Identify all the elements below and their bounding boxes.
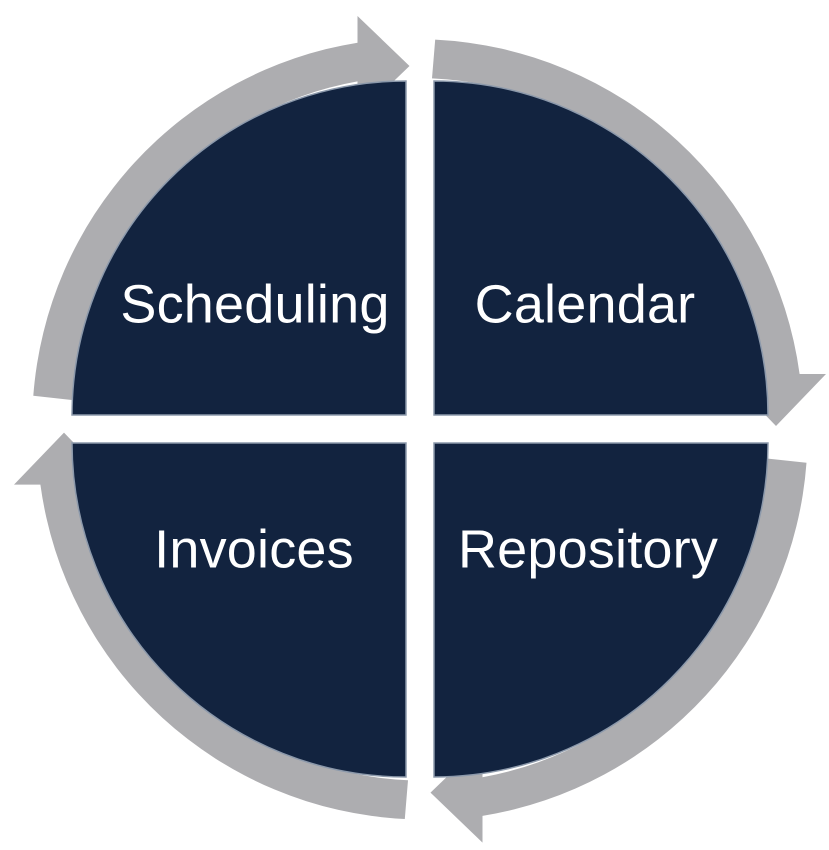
quadrant-labels-group: Scheduling Calendar Repository Invoices [120, 274, 718, 579]
quadrant-label-repository: Repository [458, 519, 718, 579]
quadrant-invoices[interactable] [72, 443, 406, 777]
quadrant-scheduling[interactable] [72, 81, 406, 415]
quadrant-calendar[interactable] [434, 81, 768, 415]
quadrant-label-scheduling: Scheduling [120, 274, 389, 334]
quadrant-label-calendar: Calendar [475, 274, 696, 334]
quadrant-group [72, 81, 768, 777]
arrow-ring-group [14, 16, 826, 843]
cycle-diagram-canvas: Scheduling Calendar Repository Invoices [0, 0, 829, 850]
quadrant-repository[interactable] [434, 443, 768, 777]
quadrant-label-invoices: Invoices [154, 519, 354, 579]
cycle-diagram: Scheduling Calendar Repository Invoices [0, 0, 829, 850]
